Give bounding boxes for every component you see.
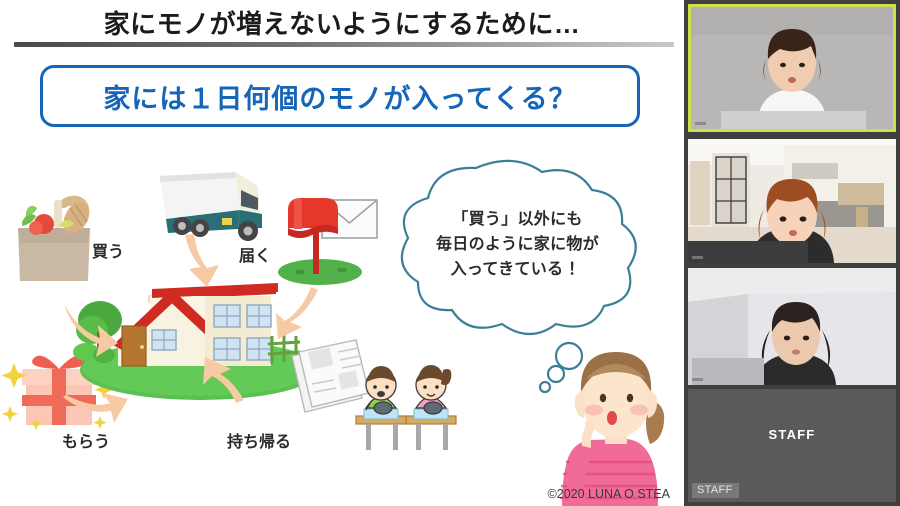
mailbox-icon (278, 198, 362, 285)
question-callout-box: 家には１日何個のモノが入ってくる？ (40, 65, 640, 127)
copyright-notice: ©2020 LUNA O STEA (548, 487, 670, 501)
thinking-woman-illustration (560, 352, 664, 506)
house-illustration (73, 283, 320, 400)
participant-tile-3[interactable] (688, 268, 896, 385)
participant-tile-2[interactable] (688, 139, 896, 263)
flow-arrows (63, 234, 318, 423)
video-frame-3 (688, 268, 896, 385)
meeting-window: 家にモノが増えないようにするために… 家には１日何個のモノが入ってくる？ (0, 0, 900, 506)
title-divider (14, 42, 674, 47)
slide-canvas: 家にモノが増えないようにするために… 家には１日何個のモノが入ってくる？ (0, 0, 684, 506)
video-feed-1 (691, 7, 893, 129)
participant-tile-4[interactable]: STAFF STAFF (688, 389, 896, 502)
question-callout-text: 家には１日何個のモノが入ってくる？ (103, 77, 576, 116)
name-tag-1 (695, 122, 706, 125)
video-feed-2 (688, 139, 896, 263)
bubble-line-3: 入ってきている ！ (451, 261, 585, 278)
shared-slide-area[interactable]: 家にモノが増えないようにするために… 家には１日何個のモノが入ってくる？ (0, 0, 684, 506)
name-tag-3 (692, 378, 703, 381)
slide-title: 家にモノが増えないようにするために… (0, 2, 684, 42)
newspaper-icon (292, 340, 369, 412)
envelope-icon (322, 200, 377, 238)
video-feed-3 (688, 268, 896, 385)
name-tag-4: STAFF (692, 483, 739, 498)
grocery-bag-icon (18, 196, 94, 281)
name-tag-2 (692, 256, 703, 259)
participant-tile-1[interactable] (688, 4, 896, 132)
thought-bubble-text: 「買う」以外にも毎日のように家に物が入ってきている ！ (400, 208, 635, 282)
gift-box-icon (2, 356, 114, 431)
participant-video-rail: STAFF STAFF (684, 0, 900, 506)
delivery-truck-icon (160, 172, 262, 241)
bubble-line-1: 「買う」以外にも (452, 211, 582, 228)
label-deliver: 届く (239, 242, 271, 266)
video-frame-2 (688, 139, 896, 263)
video-frame-1 (691, 7, 893, 129)
participant-center-label-4: STAFF (688, 427, 896, 442)
label-receive: もらう (62, 428, 110, 452)
label-buy: 買う (92, 238, 124, 262)
school-children-icon (356, 365, 456, 450)
bubble-line-2: 毎日のように家に物が (436, 236, 599, 253)
label-bring-home: 持ち帰る (227, 428, 291, 452)
